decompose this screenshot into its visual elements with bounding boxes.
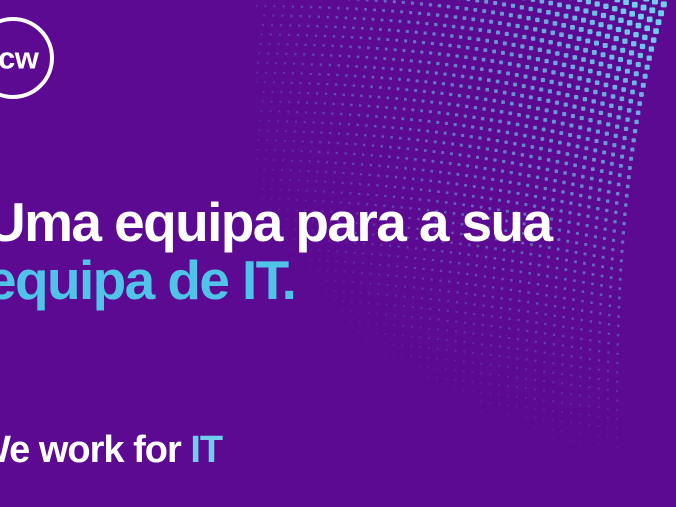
headline: Uma equipa para a sua equipa de IT. [0,193,552,309]
tagline-accent: IT [190,429,222,471]
headline-line-2: equipa de IT. [0,251,552,309]
tagline-prefix: We work for [0,429,190,471]
marketing-hero-slide: cw Uma equipa para a sua equipa de IT. W… [0,0,676,507]
logo: cw [0,17,54,99]
logo-text: cw [0,43,38,74]
headline-line-1: Uma equipa para a sua [0,193,552,251]
tagline: We work for IT [0,427,222,473]
